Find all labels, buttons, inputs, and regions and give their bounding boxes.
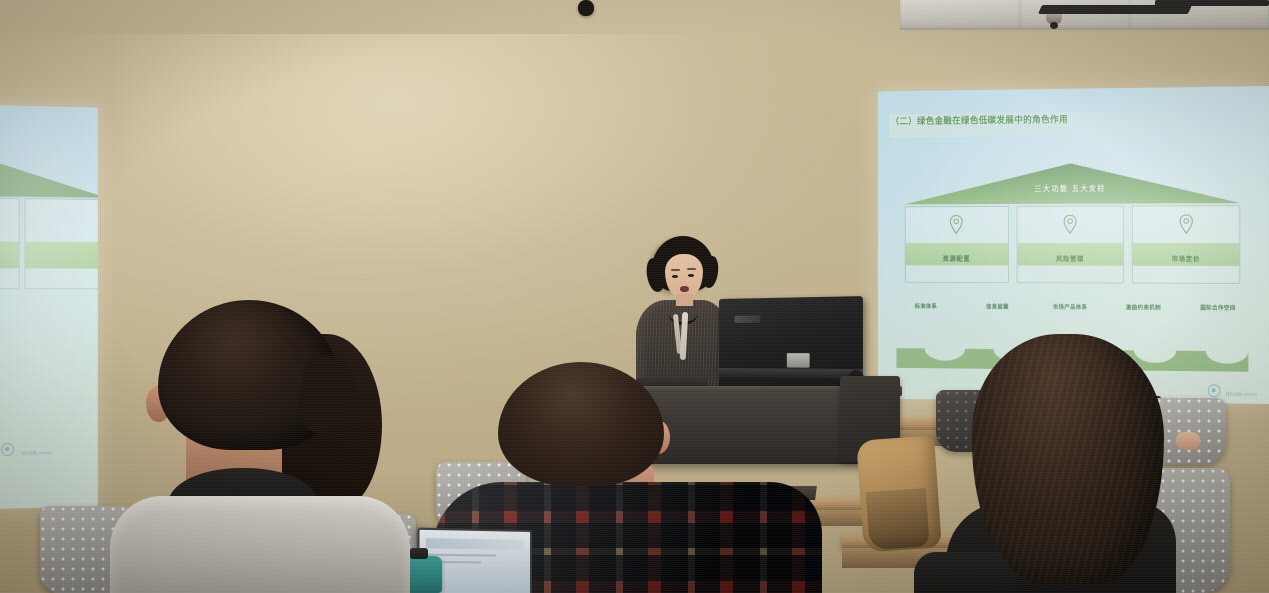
- location-pin-icon: [1178, 214, 1194, 234]
- ceiling-sensor-icon: [1046, 14, 1062, 24]
- audience-right-hand: [1176, 432, 1200, 450]
- camel-coat: [856, 435, 942, 552]
- location-pin-icon: [1062, 214, 1077, 234]
- pillar-label-3: 市场定价: [1133, 253, 1240, 263]
- slide-logo-caption: 绿色金融 GREEN: [1226, 392, 1257, 398]
- presenter-eye-left: [672, 275, 678, 278]
- audience-right: [972, 334, 1182, 593]
- location-pin-icon: [949, 215, 964, 234]
- circle-p-logo-icon: [1, 443, 14, 456]
- pillar-card-1: 资源配置: [904, 206, 1009, 283]
- circle-p-logo-icon: [1208, 384, 1221, 397]
- laptop-screen-toolbar: [426, 538, 524, 550]
- audience-right-hair: [972, 334, 1164, 584]
- slide-roof-left: [0, 160, 98, 200]
- presenter-eye-right: [688, 274, 694, 277]
- slide-left: 绿色金融 GREEN: [0, 104, 98, 510]
- support-label-1: 标准体系: [897, 303, 955, 311]
- roof-label: 三大功能 五大支柱: [904, 182, 1240, 195]
- pillar-band: [26, 242, 98, 269]
- support-label-4: 激励约束机制: [1113, 305, 1174, 313]
- monitor-brand-badge: [735, 315, 761, 322]
- pillar-card-2: 风险管理: [1017, 206, 1124, 283]
- audience-front-left-hair: [158, 300, 340, 450]
- pillar-card-3: 市场定价: [1132, 205, 1241, 283]
- slide-logo-caption: 绿色金融 GREEN: [21, 450, 51, 456]
- wall-speaker-icon: [578, 0, 594, 16]
- presenter-brow-left: [671, 269, 680, 271]
- ceiling-tile: [900, 0, 1021, 30]
- slide-cards-left: [0, 196, 98, 287]
- presenter-brow-right: [687, 268, 696, 270]
- roof-shape-icon: [0, 160, 98, 200]
- projection-screen-left: 绿色金融 GREEN: [0, 104, 98, 510]
- slide-roof: 三大功能 五大支柱: [904, 163, 1240, 207]
- pillar-card: [25, 198, 98, 289]
- support-label-3: 市场产品体系: [1040, 304, 1100, 312]
- slide-logo-group-left: 绿色金融 GREEN: [0, 440, 52, 457]
- pillar-label-1: 资源配置: [905, 252, 1008, 262]
- ceiling-recess: [1038, 5, 1192, 14]
- presenter-mouth: [680, 286, 689, 292]
- lecture-hall-photo: 绿色金融 GREEN （二）绿色金融在绿色低碳发展中的角色作用: [0, 0, 1269, 593]
- pillar-band: [0, 241, 19, 268]
- pillar-card: [0, 197, 20, 289]
- location-pin-glyph: [1062, 214, 1077, 234]
- location-pin-glyph: [1178, 214, 1194, 234]
- pillar-label-2: 风险管理: [1018, 253, 1123, 263]
- location-pin-glyph: [949, 215, 964, 234]
- audience-front-left: [120, 300, 420, 593]
- audience-front-left-hoodie: [110, 496, 410, 593]
- support-label-2: 信息披露: [968, 304, 1027, 312]
- slide-pillar-cards: 资源配置 风险管理: [904, 205, 1240, 281]
- support-label-5: 国际合作空间: [1187, 305, 1248, 313]
- audience-center-hair: [498, 362, 664, 486]
- slide-logo-group: 绿色金融 GREEN: [1208, 384, 1257, 398]
- ceiling-recess: [1155, 0, 1269, 6]
